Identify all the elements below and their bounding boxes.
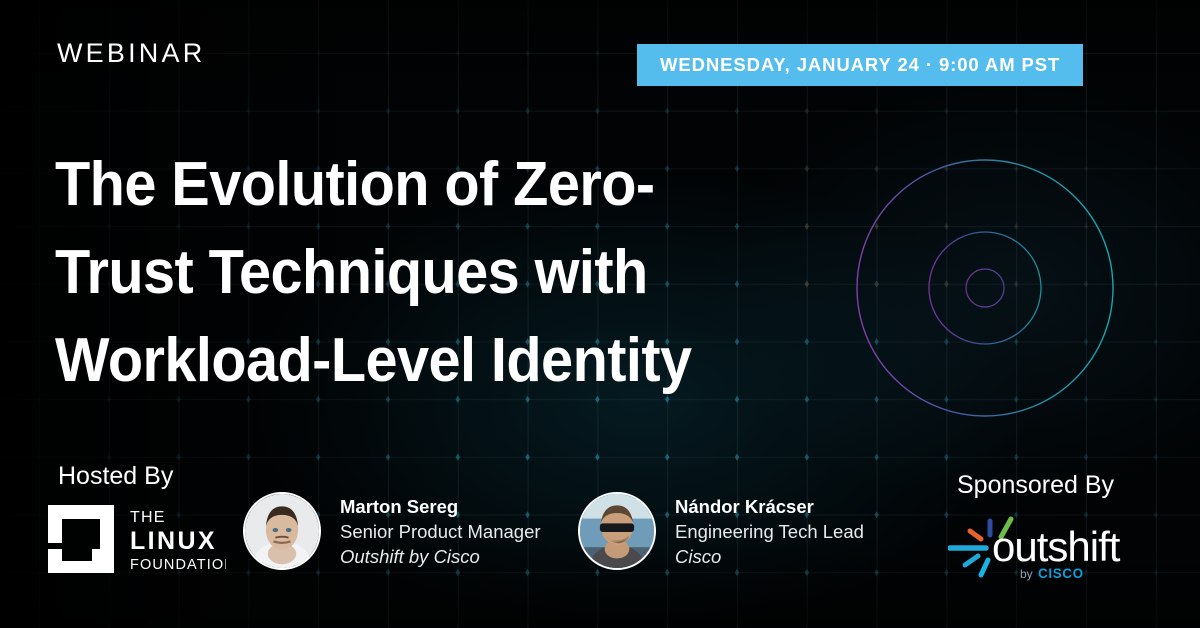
lf-logo-line-linux: LINUX xyxy=(130,527,217,555)
webinar-promo-card: WEBINAR WEDNESDAY, JANUARY 24 · 9:00 AM … xyxy=(0,0,1200,628)
outshift-logo: outshift by CISCO xyxy=(948,505,1128,583)
speaker-org: Cisco xyxy=(675,544,864,569)
avatar-nandor-kracser xyxy=(578,492,656,570)
speaker-role: Senior Product Manager xyxy=(340,519,541,544)
speaker-card: Marton Sereg Senior Product Manager Outs… xyxy=(243,492,541,570)
hosted-by-label: Hosted By xyxy=(58,462,173,491)
speaker-info: Nándor Krácser Engineering Tech Lead Cis… xyxy=(675,494,864,569)
concentric-rings-decoration xyxy=(846,118,1186,458)
title-line-1: The Evolution of Zero- xyxy=(55,141,799,229)
speaker-role: Engineering Tech Lead xyxy=(675,519,864,544)
title-line-3: Workload-Level Identity xyxy=(55,317,799,405)
outshift-byline-brand: CISCO xyxy=(1038,566,1084,581)
linux-foundation-logo: THE LINUX FOUNDATION xyxy=(46,503,226,575)
lf-logo-line-foundation: FOUNDATION xyxy=(130,557,226,573)
date-time-badge: WEDNESDAY, JANUARY 24 · 9:00 AM PST xyxy=(637,44,1083,86)
page-title: The Evolution of Zero- Trust Techniques … xyxy=(55,141,799,405)
avatar-marton-sereg xyxy=(243,492,321,570)
speaker-name: Marton Sereg xyxy=(340,494,541,519)
title-line-2: Trust Techniques with xyxy=(55,229,799,317)
speaker-info: Marton Sereg Senior Product Manager Outs… xyxy=(340,494,541,569)
speaker-org: Outshift by Cisco xyxy=(340,544,541,569)
sponsored-by-label: Sponsored By xyxy=(957,471,1114,500)
webinar-kicker: WEBINAR xyxy=(57,38,205,69)
speaker-name: Nándor Krácser xyxy=(675,494,864,519)
lf-logo-line-the: THE xyxy=(130,509,166,526)
speaker-card: Nándor Krácser Engineering Tech Lead Cis… xyxy=(578,492,864,570)
outshift-wordmark: outshift xyxy=(992,523,1121,570)
outshift-byline-prefix: by xyxy=(1020,567,1033,581)
